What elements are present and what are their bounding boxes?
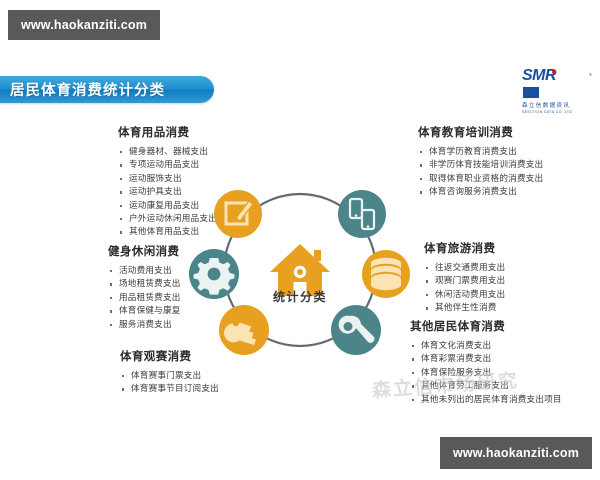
watermark-top: www.haokanziti.com <box>8 10 160 40</box>
brand-en-name: SEELTION DATA CO.,LTD <box>522 110 592 115</box>
category-item-list: 体育文化消费支出 体育彩票消费支出 体育保险服务支出 其他体育劳工服务支出 其他… <box>410 339 562 406</box>
category-title: 体育旅游消费 <box>424 240 505 256</box>
slide-canvas: www.haokanziti.com 居民体育消费统计分类 SMR ® 森立信数… <box>0 0 600 480</box>
category-title: 其他居民体育消费 <box>410 318 562 334</box>
list-item: 其他未列出的居民体育消费支出项目 <box>410 393 562 406</box>
category-other-resident: 其他居民体育消费 体育文化消费支出 体育彩票消费支出 体育保险服务支出 其他体育… <box>410 318 562 406</box>
node-wrench[interactable] <box>331 305 381 355</box>
list-item: 体育保健与康复 <box>108 304 181 317</box>
node-edit-circle[interactable] <box>214 190 262 238</box>
brand-logo: SMR ® 森立信数据资讯 SEELTION DATA CO.,LTD <box>522 68 592 100</box>
category-fitness-leisure: 健身休闲消费 活动费用支出 场地租赁费支出 用品租赁费支出 体育保健与康复 服务… <box>108 243 181 331</box>
central-diagram: 统计分类 <box>178 170 422 370</box>
page-title-banner: 居民体育消费统计分类 <box>0 76 214 103</box>
category-title: 体育用品消费 <box>118 124 217 140</box>
brand-mark-text: SMR <box>522 68 592 84</box>
list-item: 体育彩票消费支出 <box>410 352 562 365</box>
list-item: 体育赛事节目订阅支出 <box>120 382 219 395</box>
watermark-bottom: www.haokanziti.com <box>440 437 592 469</box>
node-key[interactable] <box>219 305 269 355</box>
list-item: 观赛门票费用支出 <box>424 274 505 287</box>
brand-dot-icon <box>552 70 556 74</box>
diagram-svg <box>178 170 422 370</box>
node-wrench-circle[interactable] <box>331 305 381 355</box>
list-item: 取得体育职业资格的消费支出 <box>418 172 543 185</box>
list-item: 体育文化消费支出 <box>410 339 562 352</box>
category-item-list: 往返交通费用支出 观赛门票费用支出 休闲活动费用支出 其他伴生性消费 <box>424 261 505 315</box>
node-devices[interactable] <box>338 190 386 238</box>
list-item: 休闲活动费用支出 <box>424 288 505 301</box>
category-education-training: 体育教育培训消费 体育学历教育消费支出 非学历体育技能培训消费支出 取得体育职业… <box>418 124 543 199</box>
list-item: 非学历体育技能培训消费支出 <box>418 158 543 171</box>
node-edit[interactable] <box>214 190 262 238</box>
hub-label: 统计分类 <box>178 288 422 305</box>
category-item-list: 体育赛事门票支出 体育赛事节目订阅支出 <box>120 369 219 396</box>
list-item: 体育咨询服务消费支出 <box>418 185 543 198</box>
list-item: 体育赛事门票支出 <box>120 369 219 382</box>
list-item: 其他伴生性消费 <box>424 301 505 314</box>
category-travel: 体育旅游消费 往返交通费用支出 观赛门票费用支出 休闲活动费用支出 其他伴生性消… <box>424 240 505 315</box>
list-item: 体育学历教育消费支出 <box>418 145 543 158</box>
database-icon <box>371 258 401 290</box>
brand-block-icon <box>523 87 539 98</box>
page-title: 居民体育消费统计分类 <box>10 79 165 100</box>
brand-trademark: ® <box>589 72 592 77</box>
list-item: 往返交通费用支出 <box>424 261 505 274</box>
list-item: 体育保险服务支出 <box>410 366 562 379</box>
list-item: 其他体育劳工服务支出 <box>410 379 562 392</box>
list-item: 活动费用支出 <box>108 264 181 277</box>
category-item-list: 活动费用支出 场地租赁费支出 用品租赁费支出 体育保健与康复 服务消费支出 <box>108 264 181 331</box>
watermark-bottom-label: www.haokanziti.com <box>453 446 579 460</box>
category-item-list: 体育学历教育消费支出 非学历体育技能培训消费支出 取得体育职业资格的消费支出 体… <box>418 145 543 199</box>
watermark-top-label: www.haokanziti.com <box>21 18 147 32</box>
list-item: 场地租赁费支出 <box>108 277 181 290</box>
category-title: 体育教育培训消费 <box>418 124 543 140</box>
list-item: 用品租赁费支出 <box>108 291 181 304</box>
list-item-continuation: 服务消费支出 <box>108 318 181 331</box>
brand-cn-name: 森立信数据资讯 <box>522 103 592 110</box>
category-title: 健身休闲消费 <box>108 243 181 259</box>
list-item: 健身器材、器械支出 <box>118 145 217 158</box>
